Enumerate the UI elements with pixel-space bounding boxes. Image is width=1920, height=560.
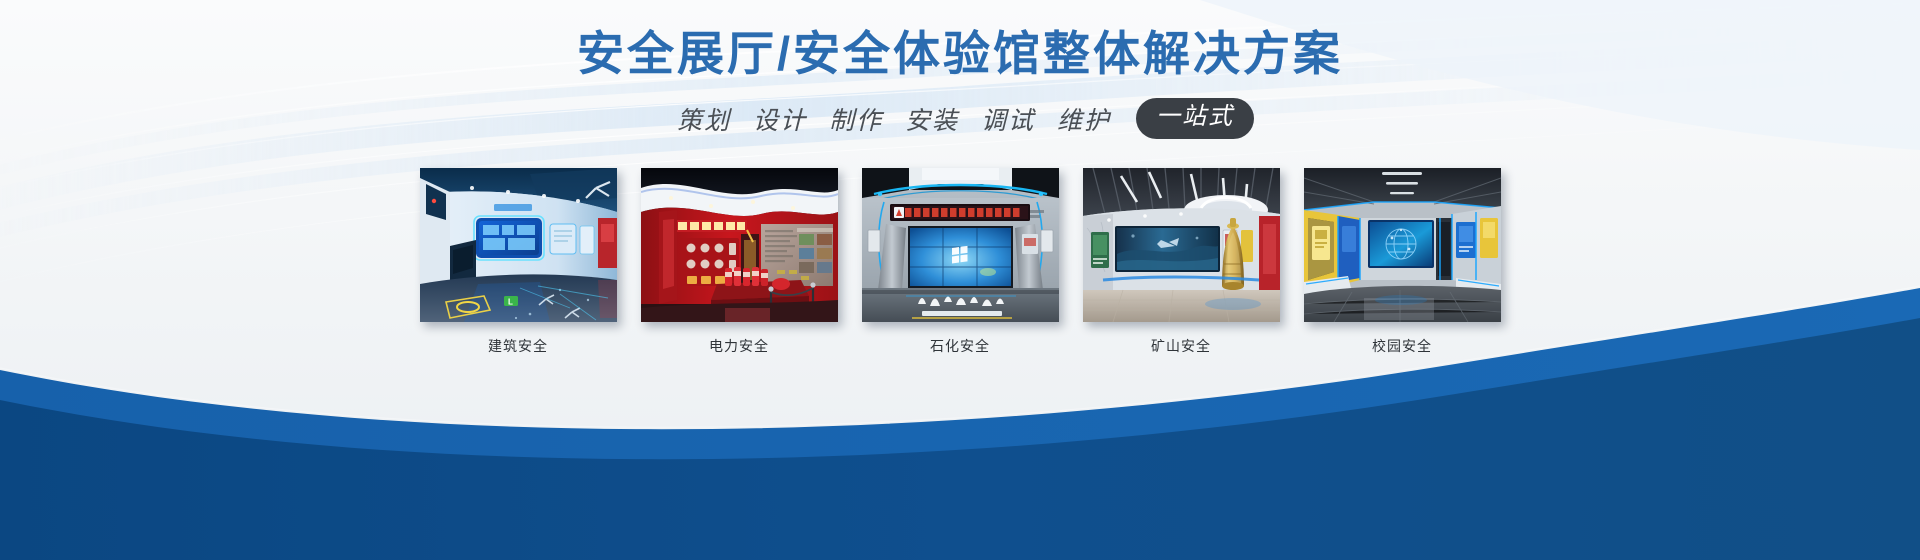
video-wall-training-photo[interactable] <box>862 168 1059 322</box>
fire-equipment-red-photo[interactable] <box>641 168 838 322</box>
case-caption: 校园安全 <box>1304 336 1501 356</box>
one-stop-badge: 一站式 <box>1136 98 1254 138</box>
service-steps-row: 策划 设计 制作 安装 调试 维护 一站式 <box>0 98 1920 138</box>
service-step-debugging: 调试 <box>970 101 1046 137</box>
case-card-electric[interactable]: 电力安全 <box>641 168 838 356</box>
case-card-construction[interactable]: L 建筑安全 <box>420 168 617 356</box>
service-step-design: 设计 <box>742 101 818 137</box>
service-step-production: 制作 <box>818 101 894 137</box>
promo-banner: 安全展厅/安全体验馆整体解决方案 策划 设计 制作 安装 调试 维护 一站式 <box>0 0 1920 560</box>
page-title: 安全展厅/安全体验馆整体解决方案 <box>0 26 1920 81</box>
case-caption: 建筑安全 <box>420 336 617 356</box>
case-card-petrochemical[interactable]: 石化安全 <box>862 168 1059 356</box>
case-caption: 电力安全 <box>641 336 838 356</box>
case-thumbnail-strip: L 建筑安全 <box>0 168 1920 356</box>
case-card-mining[interactable]: 矿山安全 <box>1083 168 1280 356</box>
golden-bell-hall-photo[interactable] <box>1083 168 1280 322</box>
case-caption: 矿山安全 <box>1083 336 1280 356</box>
exhibition-hall-blue-photo[interactable]: L <box>420 168 617 322</box>
service-step-maintenance: 维护 <box>1046 101 1122 137</box>
service-step-planning: 策划 <box>666 101 742 137</box>
svg-text:L: L <box>508 298 513 307</box>
case-card-campus[interactable]: 校园安全 <box>1304 168 1501 356</box>
case-caption: 石化安全 <box>862 336 1059 356</box>
campus-corridor-photo[interactable] <box>1304 168 1501 322</box>
service-step-installation: 安装 <box>894 101 970 137</box>
banner-text-block: 安全展厅/安全体验馆整体解决方案 策划 设计 制作 安装 调试 维护 一站式 <box>0 0 1920 139</box>
